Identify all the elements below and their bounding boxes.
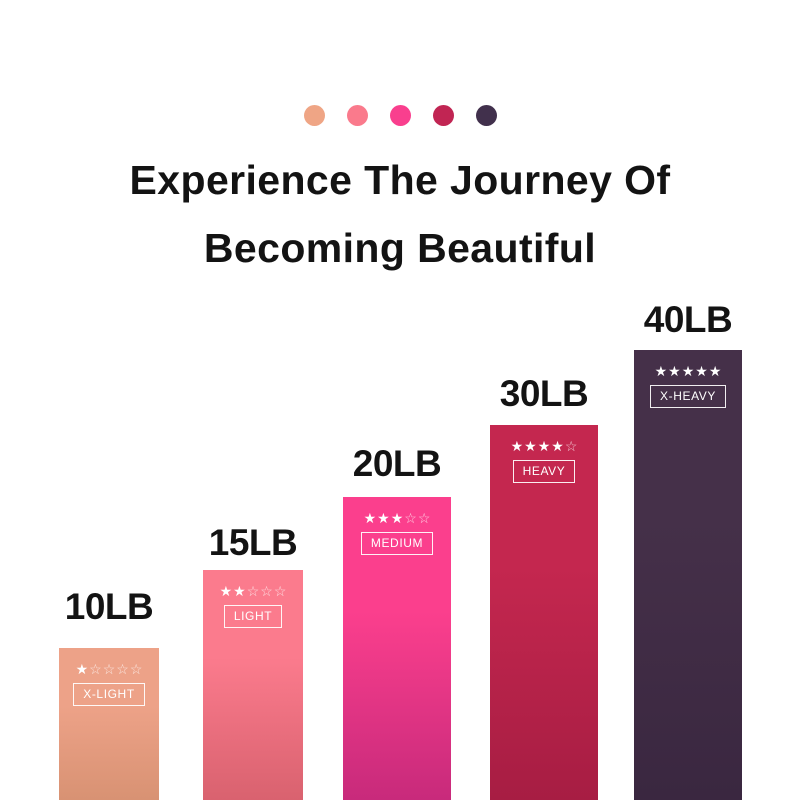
- star-empty-icon: ☆: [565, 439, 578, 453]
- star-filled-icon: ★: [538, 439, 551, 453]
- star-filled-icon: ★: [655, 364, 668, 378]
- bar-20lb[interactable]: ★★★☆☆MEDIUM: [343, 497, 451, 800]
- resistance-badge-x-light: X-LIGHT: [73, 683, 145, 706]
- bar-group-15lb[interactable]: 15LB★★☆☆☆LIGHT: [203, 570, 303, 800]
- star-empty-icon: ☆: [247, 584, 260, 598]
- product-infographic-poster: Experience The Journey OfBecoming Beauti…: [0, 0, 800, 800]
- star-empty-icon: ☆: [116, 662, 129, 676]
- bar-group-30lb[interactable]: 30LB★★★★☆HEAVY: [490, 425, 598, 800]
- bar-content-10lb: ★☆☆☆☆X-LIGHT: [59, 648, 159, 706]
- bar-group-10lb[interactable]: 10LB★☆☆☆☆X-LIGHT: [59, 648, 159, 800]
- star-rating-30lb: ★★★★☆: [511, 439, 578, 453]
- bar-content-30lb: ★★★★☆HEAVY: [490, 425, 598, 483]
- star-rating-20lb: ★★★☆☆: [364, 511, 431, 525]
- star-empty-icon: ☆: [130, 662, 143, 676]
- bar-group-20lb[interactable]: 20LB★★★☆☆MEDIUM: [343, 497, 451, 800]
- bar-content-15lb: ★★☆☆☆LIGHT: [203, 570, 303, 628]
- star-empty-icon: ☆: [260, 584, 273, 598]
- star-empty-icon: ☆: [89, 662, 102, 676]
- bar-40lb[interactable]: ★★★★★X-HEAVY: [634, 350, 742, 800]
- star-rating-40lb: ★★★★★: [655, 364, 722, 378]
- bar-group-40lb[interactable]: 40LB★★★★★X-HEAVY: [634, 350, 742, 800]
- bar-30lb[interactable]: ★★★★☆HEAVY: [490, 425, 598, 800]
- resistance-badge-x-heavy: X-HEAVY: [650, 385, 726, 408]
- star-filled-icon: ★: [233, 584, 246, 598]
- resistance-badge-heavy: HEAVY: [513, 460, 576, 483]
- star-filled-icon: ★: [511, 439, 524, 453]
- star-filled-icon: ★: [377, 511, 390, 525]
- bar-10lb[interactable]: ★☆☆☆☆X-LIGHT: [59, 648, 159, 800]
- star-empty-icon: ☆: [404, 511, 417, 525]
- star-rating-15lb: ★★☆☆☆: [220, 584, 287, 598]
- star-filled-icon: ★: [682, 364, 695, 378]
- star-empty-icon: ☆: [103, 662, 116, 676]
- star-filled-icon: ★: [551, 439, 564, 453]
- star-filled-icon: ★: [364, 511, 377, 525]
- bar-15lb[interactable]: ★★☆☆☆LIGHT: [203, 570, 303, 800]
- star-empty-icon: ☆: [274, 584, 287, 598]
- bar-weight-label-20lb: 20LB: [343, 445, 451, 482]
- resistance-bar-chart: 10LB★☆☆☆☆X-LIGHT15LB★★☆☆☆LIGHT20LB★★★☆☆M…: [0, 0, 800, 800]
- star-filled-icon: ★: [709, 364, 722, 378]
- star-filled-icon: ★: [220, 584, 233, 598]
- bar-weight-label-15lb: 15LB: [203, 524, 303, 561]
- star-filled-icon: ★: [76, 662, 89, 676]
- star-empty-icon: ☆: [418, 511, 431, 525]
- bar-weight-label-40lb: 40LB: [634, 301, 742, 338]
- star-rating-10lb: ★☆☆☆☆: [76, 662, 143, 676]
- star-filled-icon: ★: [524, 439, 537, 453]
- bar-weight-label-10lb: 10LB: [59, 588, 159, 625]
- star-filled-icon: ★: [668, 364, 681, 378]
- star-filled-icon: ★: [695, 364, 708, 378]
- bar-weight-label-30lb: 30LB: [490, 375, 598, 412]
- bar-content-20lb: ★★★☆☆MEDIUM: [343, 497, 451, 555]
- resistance-badge-medium: MEDIUM: [361, 532, 433, 555]
- bar-content-40lb: ★★★★★X-HEAVY: [634, 350, 742, 408]
- star-filled-icon: ★: [391, 511, 404, 525]
- resistance-badge-light: LIGHT: [224, 605, 282, 628]
